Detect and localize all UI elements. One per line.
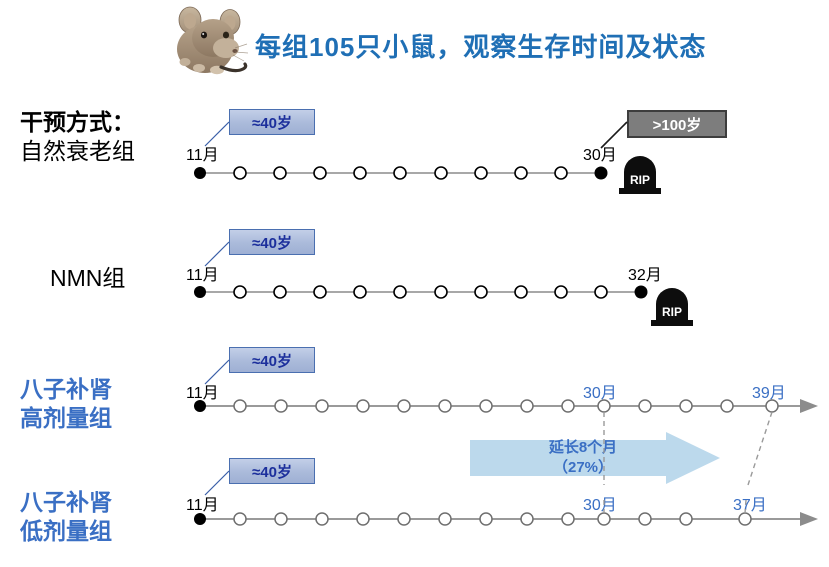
svg-text:RIP: RIP (662, 305, 682, 319)
annotation-line2: （27%） (498, 458, 668, 478)
page-title: 每组105只小鼠，观察生存时间及状态 (255, 27, 706, 64)
row-label-high-dose: 八子补肾 高剂量组 (20, 375, 112, 433)
dashed-connector-39m (748, 412, 772, 485)
group-name-high-dose-line2: 高剂量组 (20, 404, 112, 433)
mouse-photo (169, 4, 251, 80)
callout-age-row1: ≈40岁 (229, 109, 315, 135)
month-label-row1-start: 11月 (186, 141, 219, 165)
timeline-row-nmn (194, 286, 648, 299)
month-label-row3-end: 39月 (752, 379, 786, 403)
row-label-natural-aging: 干预方式： 自然衰老组 (20, 108, 135, 166)
month-label-row4-end: 37月 (733, 491, 767, 515)
group-name-low-dose-line2: 低剂量组 (20, 517, 112, 546)
tombstone-icon-row1: RIP (618, 152, 662, 194)
svg-text:RIP: RIP (630, 173, 650, 187)
month-label-row4-mid: 30月 (583, 491, 617, 515)
intervention-heading: 干预方式： (20, 108, 135, 137)
group-name-nmn: NMN组 (50, 264, 125, 293)
month-label-row4-start: 11月 (186, 491, 219, 515)
badge-over-100-years: >100岁 (627, 110, 727, 138)
month-label-row2-end: 32月 (628, 261, 662, 285)
timeline-row-natural-aging (194, 167, 608, 180)
group-name-high-dose-line1: 八子补肾 (20, 375, 112, 404)
month-label-row1-end: 30月 (583, 141, 617, 165)
month-label-row3-start: 11月 (186, 379, 219, 403)
timeline-row-high-dose (194, 399, 818, 413)
group-name-natural-aging: 自然衰老组 (20, 137, 135, 166)
row-label-low-dose: 八子补肾 低剂量组 (20, 488, 112, 546)
row-label-nmn: NMN组 (50, 264, 125, 293)
month-label-row2-start: 11月 (186, 261, 219, 285)
callout-age-row3: ≈40岁 (229, 347, 315, 373)
annotation-extension-arrow: 延长8个月 （27%） (470, 432, 720, 484)
group-name-low-dose-line1: 八子补肾 (20, 488, 112, 517)
timeline-row-low-dose (194, 512, 818, 526)
tombstone-icon-row2: RIP (650, 284, 694, 326)
month-label-row3-mid: 30月 (583, 379, 617, 403)
callout-age-row2: ≈40岁 (229, 229, 315, 255)
callout-age-row4: ≈40岁 (229, 458, 315, 484)
annotation-line1: 延长8个月 (498, 438, 668, 458)
